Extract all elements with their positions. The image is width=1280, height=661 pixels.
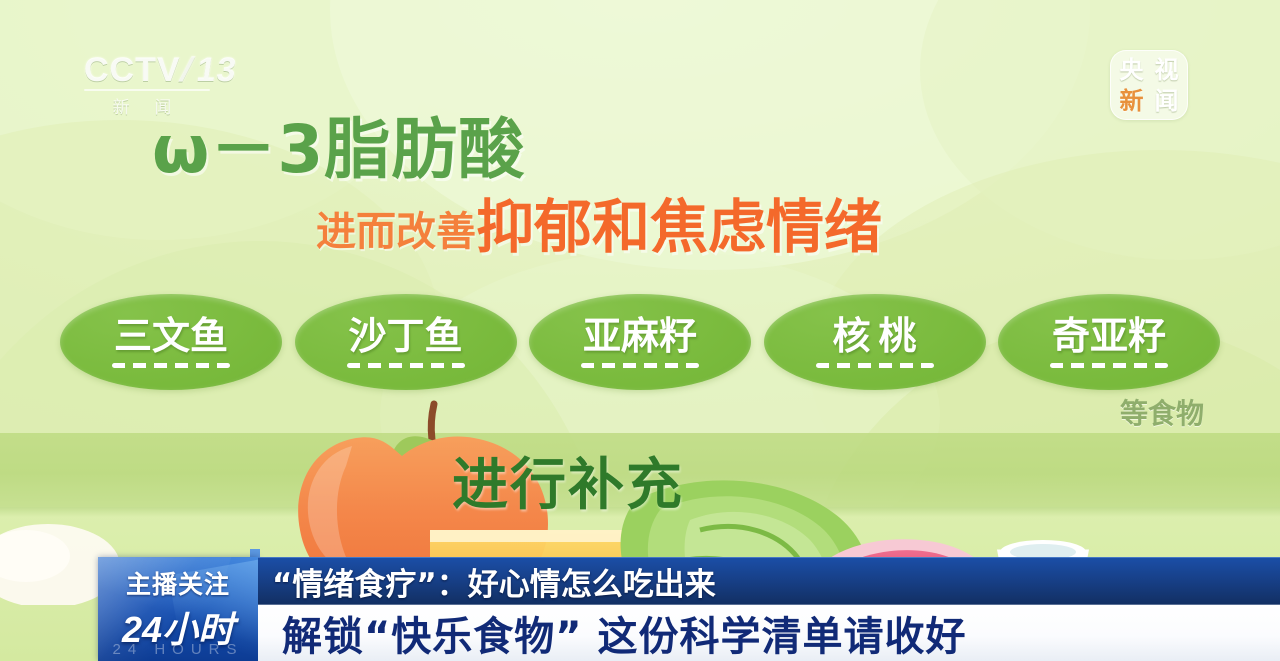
badge-char-shi: 视 [1155, 58, 1179, 82]
dashed-underline [581, 363, 699, 368]
etc-foods-label: 等食物 [1120, 392, 1204, 432]
subtitle-bar: “情绪食疗”：好心情怎么吃出来 [258, 557, 1280, 605]
food-pill-label: 核桃 [824, 317, 924, 355]
improve-prefix-text: 进而改善 [316, 212, 476, 256]
food-pill-label: 沙丁鱼 [348, 317, 462, 355]
program-name-en-label: 24 HOURS [98, 641, 258, 658]
cctv-logo-underline [84, 89, 210, 91]
dashed-underline [816, 363, 934, 368]
dashed-underline [347, 363, 465, 368]
improve-mood-line: 进而改善 抑郁和焦虑情绪 [316, 198, 882, 256]
food-pill-label: 亚麻籽 [583, 317, 697, 355]
food-pill-label: 奇亚籽 [1052, 317, 1166, 355]
cctv-news-badge: 央 视 新 闻 [1110, 50, 1188, 120]
food-pill-sardine[interactable]: 沙丁鱼 [295, 294, 517, 390]
food-pill-list: 三文鱼 沙丁鱼 亚麻籽 核桃 奇亚籽 [60, 292, 1220, 392]
food-pill-flaxseed[interactable]: 亚麻籽 [529, 294, 751, 390]
program-tag-label: 主播关注 [98, 565, 258, 601]
program-badge: 主播关注 24小时 24 HOURS [98, 557, 258, 661]
food-pill-chiaseed[interactable]: 奇亚籽 [998, 294, 1220, 390]
cctv-logo-text: CCTV [84, 51, 181, 89]
badge-char-xin: 新 [1120, 89, 1144, 113]
subtitle-text: “情绪食疗”：好心情怎么吃出来 [258, 559, 716, 604]
supplement-title: 进行补充 [452, 440, 684, 521]
headline-text: 解锁“快乐食物” 这份科学清单请收好 [258, 604, 967, 661]
broadcast-screen: CCTV/13 新 闻 央 视 新 闻 ω－3脂肪酸 进而改善 抑郁和焦虑情绪 … [0, 0, 1280, 661]
cctv-logo-number: 13 [194, 52, 239, 88]
badge-char-wen: 闻 [1155, 89, 1179, 113]
lower-third: 主播关注 24小时 24 HOURS “情绪食疗”：好心情怎么吃出来 解锁“快乐… [0, 549, 1280, 661]
dashed-underline [1050, 363, 1168, 368]
food-pill-salmon[interactable]: 三文鱼 [60, 294, 282, 390]
omega3-title: ω－3脂肪酸 [152, 96, 525, 192]
improve-main-text: 抑郁和焦虑情绪 [476, 198, 882, 256]
headline-bar: 解锁“快乐食物” 这份科学清单请收好 [258, 605, 1280, 661]
food-pill-label: 三文鱼 [114, 317, 228, 355]
badge-char-yang: 央 [1120, 58, 1144, 82]
dashed-underline [112, 363, 230, 368]
food-pill-walnut[interactable]: 核桃 [764, 294, 986, 390]
